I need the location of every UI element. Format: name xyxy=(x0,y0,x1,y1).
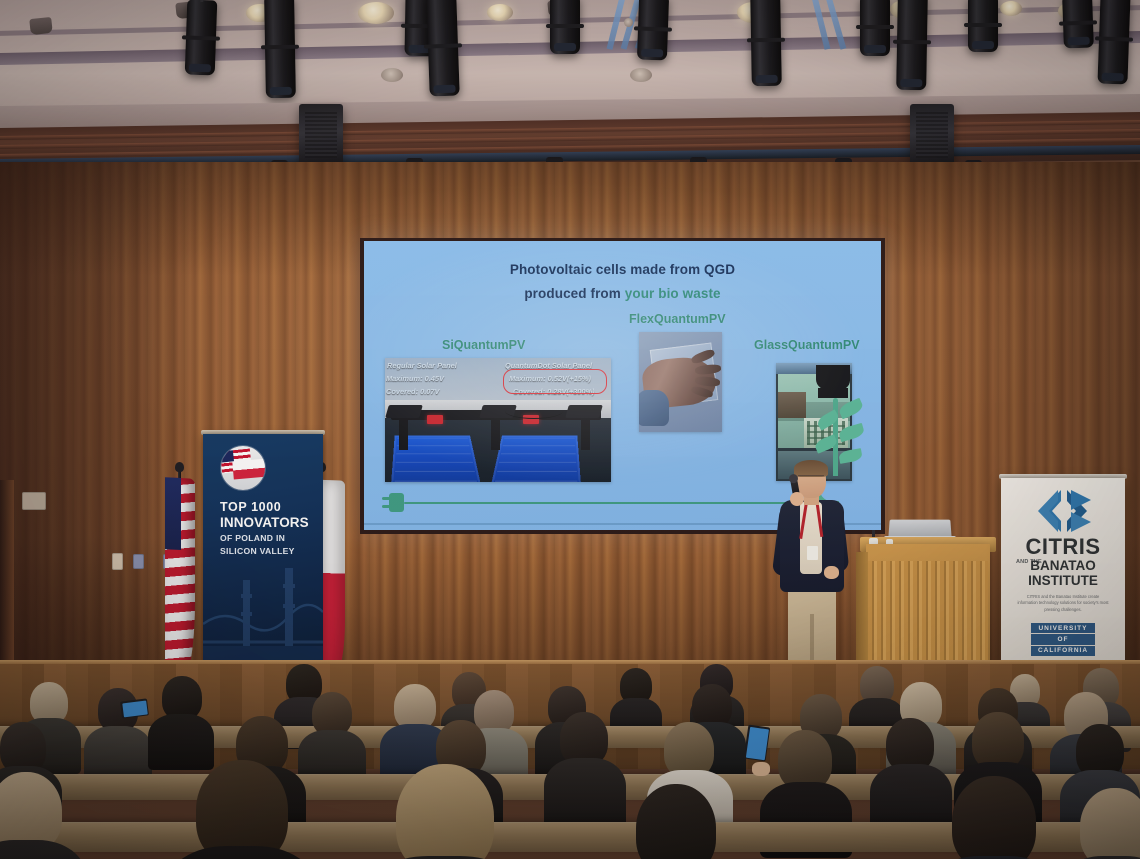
recessed-downlight xyxy=(358,2,394,24)
ceiling-speaker xyxy=(29,17,53,35)
university-of-california-logo: UNIVERSITY OF CALIFORNIA xyxy=(1031,623,1095,657)
stage-light xyxy=(1062,0,1094,49)
gloved-hand xyxy=(816,365,850,391)
stage-light xyxy=(1097,0,1130,84)
stage-light xyxy=(264,0,296,98)
uc-line2: OF xyxy=(1031,634,1095,644)
recessed-downlight xyxy=(630,68,652,82)
usa-flag xyxy=(165,477,195,679)
slide-title: Photovoltaic cells made from QGD produce… xyxy=(364,258,881,305)
speaker-right-hand xyxy=(824,566,839,579)
uc-line1: UNIVERSITY xyxy=(1031,623,1095,633)
slide-title-accent: your bio waste xyxy=(625,286,721,301)
stage-light xyxy=(637,0,669,61)
citris-subtitle: BANATAO INSTITUTE xyxy=(1001,558,1125,588)
product-label-si: SiQuantumPV xyxy=(442,338,525,352)
stage-light xyxy=(426,0,459,96)
auditorium-photo: Photovoltaic cells made from QGD produce… xyxy=(0,0,1140,859)
citris-chevron-icon xyxy=(1031,488,1095,534)
smartphone xyxy=(744,725,771,762)
product-label-glass: GlassQuantumPV xyxy=(754,338,860,352)
stage-light xyxy=(550,0,580,54)
si-caption-left-title: Regular Solar Panel xyxy=(387,361,457,370)
banner-left-line2: INNOVATORS xyxy=(220,515,309,530)
speaker-glasses xyxy=(798,475,824,481)
recessed-downlight xyxy=(487,4,513,21)
wall-switch-plate xyxy=(112,553,123,570)
pa-speaker xyxy=(299,104,343,166)
power-cord-graphic xyxy=(404,502,804,504)
door-jamb xyxy=(0,480,14,685)
stage-light xyxy=(750,0,782,86)
golden-gate-bridge-graphic xyxy=(203,550,323,662)
si-quantum-pv-photo: Regular Solar Panel Maximum: 0.45V Cover… xyxy=(385,358,611,482)
stage-light xyxy=(968,0,998,52)
uc-line3: CALIFORNIA xyxy=(1031,646,1095,656)
banner-left-line3: OF POLAND IN xyxy=(220,532,295,545)
banner-left-line1: TOP 1000 xyxy=(220,500,281,514)
product-label-flex: FlexQuantumPV xyxy=(629,312,726,326)
wall-outlet-plate xyxy=(133,554,144,569)
flex-quantum-pv-photo xyxy=(639,332,722,432)
slide-title-line1: Photovoltaic cells made from QGD xyxy=(364,258,881,282)
wall-sign-plate xyxy=(22,492,46,510)
citris-name: CITRIS xyxy=(1001,536,1125,558)
banner-top1000-innovators: TOP 1000 INNOVATORS OF POLAND IN SILICON… xyxy=(203,434,323,682)
plug-icon xyxy=(382,493,404,512)
speaker-hand-holding-mic xyxy=(790,492,804,506)
stage-light xyxy=(185,0,218,76)
smartphone xyxy=(120,698,149,718)
citris-sub-line1: BANATAO xyxy=(1001,558,1125,573)
si-caption-left-covered: Covered: 0.07V xyxy=(386,387,439,396)
usa-poland-flag-logo xyxy=(221,446,265,490)
si-caption-left-max: Maximum: 0.45V xyxy=(386,374,444,383)
audience-seating xyxy=(0,664,1140,859)
slide-title-line2: produced from your bio waste xyxy=(364,282,881,306)
slide-title-line2-prefix: produced from xyxy=(524,286,624,301)
citris-sub-line2: INSTITUTE xyxy=(1001,573,1125,588)
recessed-downlight xyxy=(1000,1,1022,16)
citris-body-text: CITRIS and the Banatao Institute create … xyxy=(1017,594,1109,613)
recessed-downlight xyxy=(624,18,633,27)
stage-light xyxy=(896,0,928,90)
recessed-downlight xyxy=(381,68,403,82)
stage-light xyxy=(860,0,890,56)
si-highlight-box xyxy=(503,369,607,394)
pa-speaker xyxy=(910,104,954,166)
speaker-badge xyxy=(807,546,818,560)
